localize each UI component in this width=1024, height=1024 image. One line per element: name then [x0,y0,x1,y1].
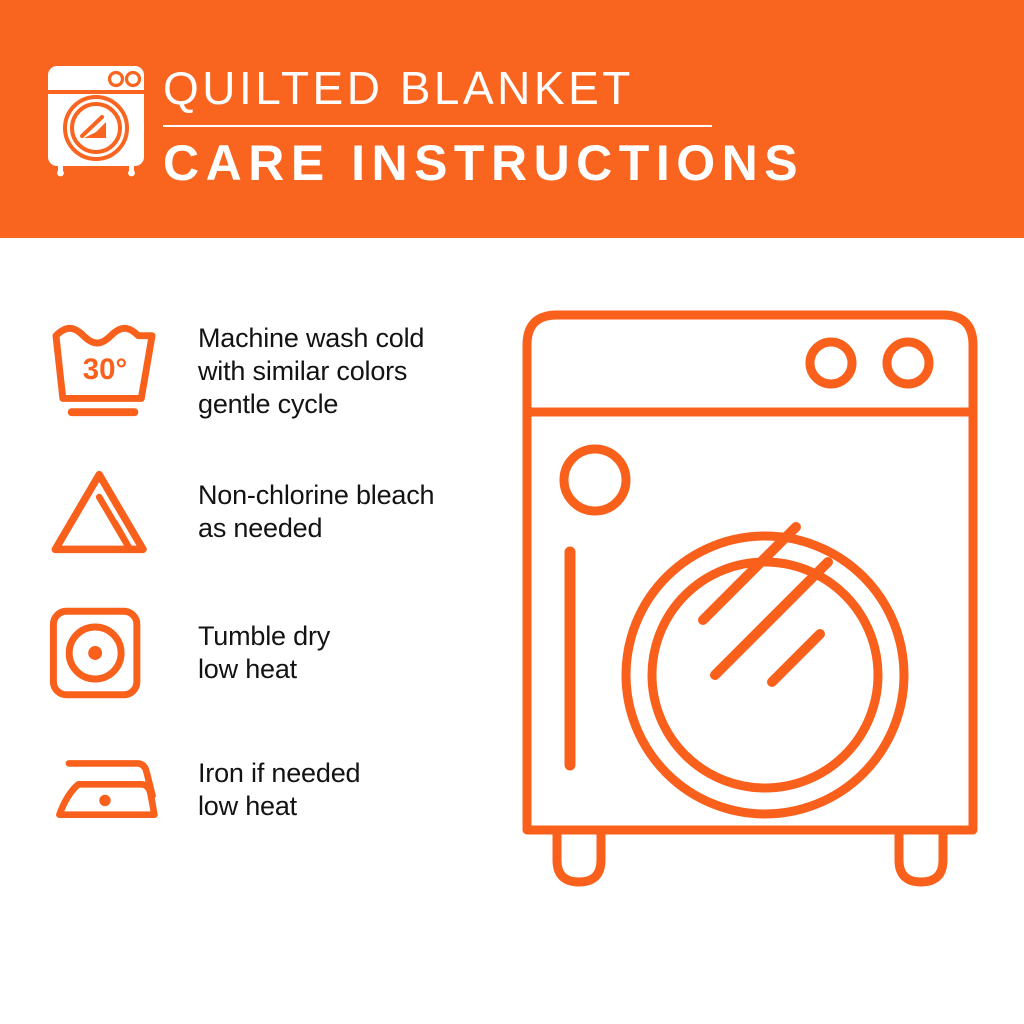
wash-tub-30-icon: 30° [46,320,166,422]
care-line: with similar colors [198,355,424,388]
care-line: as needed [198,512,434,545]
page-title: QUILTED BLANKET [163,62,763,114]
control-knob-right [887,342,929,384]
tumble-dry-low-icon [46,605,166,701]
control-knob-left [810,342,852,384]
care-text-iron: Iron if needed low heat [198,757,360,823]
door-shine-line-3 [772,634,820,682]
care-row-tumble-dry: Tumble dry low heat [46,605,486,701]
header-band: QUILTED BLANKET CARE INSTRUCTIONS [0,0,1024,238]
washing-machine-icon [44,62,148,178]
care-instructions-poster: QUILTED BLANKET CARE INSTRUCTIONS 30° Ma… [0,0,1024,1024]
care-line: low heat [198,653,330,686]
care-text-tumble-dry: Tumble dry low heat [198,620,330,686]
iron-low-heat-icon [46,752,166,828]
leg-right [899,830,943,882]
care-line: Iron if needed [198,757,360,790]
care-row-machine-wash: 30° Machine wash cold with similar color… [46,320,486,422]
page-subtitle: CARE INSTRUCTIONS [163,135,763,191]
non-chlorine-bleach-triangle-icon [46,465,166,559]
title-divider [163,125,712,127]
wash-temperature-label: 30° [83,353,127,386]
front-load-washing-machine-illustration [500,290,1000,890]
care-text-bleach: Non-chlorine bleach as needed [198,479,434,545]
care-row-bleach: Non-chlorine bleach as needed [46,465,486,559]
care-line: Machine wash cold [198,322,424,355]
care-text-machine-wash: Machine wash cold with similar colors ge… [198,322,424,421]
detergent-indicator-circle [564,449,626,511]
door-inner-ring [652,562,878,788]
care-line: Non-chlorine bleach [198,479,434,512]
door-shine-line-2 [715,562,828,675]
leg-left [557,830,601,882]
header-text-block: QUILTED BLANKET CARE INSTRUCTIONS [163,62,763,191]
care-line: low heat [198,790,360,823]
door-outer-ring [626,536,904,814]
care-line: Tumble dry [198,620,330,653]
care-row-iron: Iron if needed low heat [46,752,486,828]
care-line: gentle cycle [198,388,424,421]
